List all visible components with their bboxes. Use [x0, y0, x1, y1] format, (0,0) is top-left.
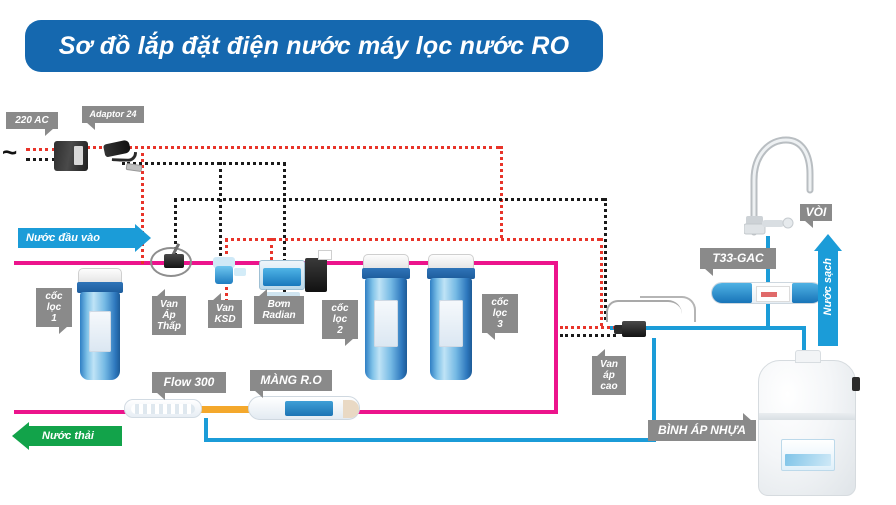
- label-coc-loc-3: cốc lọc 3: [482, 294, 518, 333]
- adaptor-plug-icon: [103, 139, 131, 157]
- hp-valve-body-icon: [622, 321, 646, 337]
- inlet-water-arrow: Nước đầu vào: [18, 228, 136, 248]
- label-van-ap-cao: Van áp cao: [592, 356, 626, 395]
- pipe-inlet-down-to-membrane: [554, 261, 558, 414]
- diagram-canvas: Sơ đồ lắp đặt điện nước máy lọc nước RO …: [0, 0, 896, 505]
- ksd-port-icon: [234, 268, 246, 276]
- tank-band-icon: [759, 413, 855, 420]
- wire-live-mains: [26, 148, 56, 151]
- label-coc-loc-2: cốc lọc 2: [322, 300, 358, 339]
- booster-pump-icon: [259, 256, 327, 294]
- valve-body-icon: [164, 254, 184, 268]
- cartridge-label-mid: [376, 323, 396, 331]
- wire-neutral-drop-ksd: [219, 162, 222, 262]
- label-coc-loc-1: cốc lọc 1: [36, 288, 72, 327]
- wire-live-drop-hp-valve: [600, 238, 603, 326]
- tank-label-icon: [781, 439, 835, 471]
- diagram-title-banner: Sơ đồ lắp đặt điện nước máy lọc nước RO: [25, 20, 603, 72]
- wire-live-to-hp-valve: [560, 326, 616, 329]
- housing-bowl-icon: [365, 278, 407, 380]
- label-220-ac: 220 AC: [6, 112, 58, 129]
- cartridge-label-top: [376, 305, 396, 317]
- check-valve-icon: [208, 256, 242, 290]
- label-bom-radian: Bơm Radian: [254, 296, 304, 324]
- tank-valve-icon: [852, 377, 860, 391]
- waste-water-label: Nước thải: [42, 430, 94, 442]
- cartridge-label-top: [441, 305, 461, 317]
- pipe-waste-out: [14, 410, 128, 414]
- membrane-cap-icon: [343, 400, 359, 418]
- waste-water-arrow: Nước thải: [28, 426, 122, 446]
- t33-left-cap-icon: [712, 283, 752, 303]
- ro-membrane-icon: [248, 396, 360, 420]
- high-pressure-valve-icon: [614, 316, 654, 342]
- pipe-membrane-feed: [354, 410, 558, 414]
- label-adaptor-24: Adaptor 24: [82, 106, 144, 123]
- flow-restrictor-icon: [124, 399, 202, 418]
- label-t33-gac: T33-GAC: [700, 248, 776, 269]
- label-binh-ap-nhua: BÌNH ÁP NHỰA: [648, 420, 756, 441]
- housing-bowl-icon: [80, 292, 120, 380]
- label-flow-300: Flow 300: [152, 372, 226, 393]
- tank-neck-icon: [795, 350, 821, 363]
- wire-live-bus: [225, 238, 600, 241]
- pipe-restrictor-link: [196, 406, 254, 413]
- t33-label-icon: [756, 286, 790, 302]
- pipe-hp-valve-to-t33: [652, 326, 716, 330]
- adaptor-dc-tip-icon: [126, 163, 143, 172]
- pipe-t33-bottom-bus: [712, 326, 806, 330]
- membrane-label-icon: [285, 401, 333, 416]
- wire-neutral-drop-hp-valve: [604, 198, 607, 320]
- label-van-ksd: Van KSD: [208, 300, 242, 328]
- pipe-permeate-bottom: [204, 438, 656, 442]
- pressure-tank-icon: [758, 360, 856, 496]
- clean-water-label: Nước sạch: [822, 258, 834, 315]
- filter-housing-3: [428, 254, 474, 380]
- pump-tag-icon: [318, 250, 332, 260]
- cartridge-label-mid: [90, 331, 109, 338]
- clean-water-arrow: Nước sạch: [818, 250, 838, 346]
- wire-neutral-bus: [174, 198, 604, 201]
- t33-gac-filter-icon: [711, 282, 823, 304]
- pump-head-icon: [263, 268, 301, 286]
- label-van-ap-thap: Van Áp Thấp: [152, 296, 186, 335]
- filter-housing-2: [363, 254, 409, 380]
- filter-housing-1: [78, 268, 122, 380]
- low-pressure-valve-icon: [152, 243, 198, 283]
- housing-bowl-icon: [430, 278, 472, 380]
- wire-neutral-mains: [26, 158, 56, 161]
- label-voi: VÒI: [800, 204, 832, 221]
- wire-neutral-to-hp-valve: [560, 334, 616, 337]
- label-mang-ro: MÀNG R.O: [250, 370, 332, 391]
- pump-motor-icon: [305, 258, 327, 292]
- adaptor-body-icon: [54, 141, 88, 171]
- cartridge-label-top: [90, 315, 109, 326]
- wire-live-drop-right: [500, 146, 503, 238]
- wire-neutral-top: [122, 162, 286, 165]
- pipe-permeate-from-membrane: [204, 418, 208, 440]
- cartridge-label-mid: [441, 323, 461, 331]
- inlet-water-label: Nước đầu vào: [26, 232, 100, 244]
- wire-live-dc-top: [86, 146, 500, 149]
- page-title: Sơ đồ lắp đặt điện nước máy lọc nước RO: [59, 32, 570, 61]
- ksd-body-icon: [215, 266, 233, 284]
- ac-power-symbol: ~: [2, 142, 17, 162]
